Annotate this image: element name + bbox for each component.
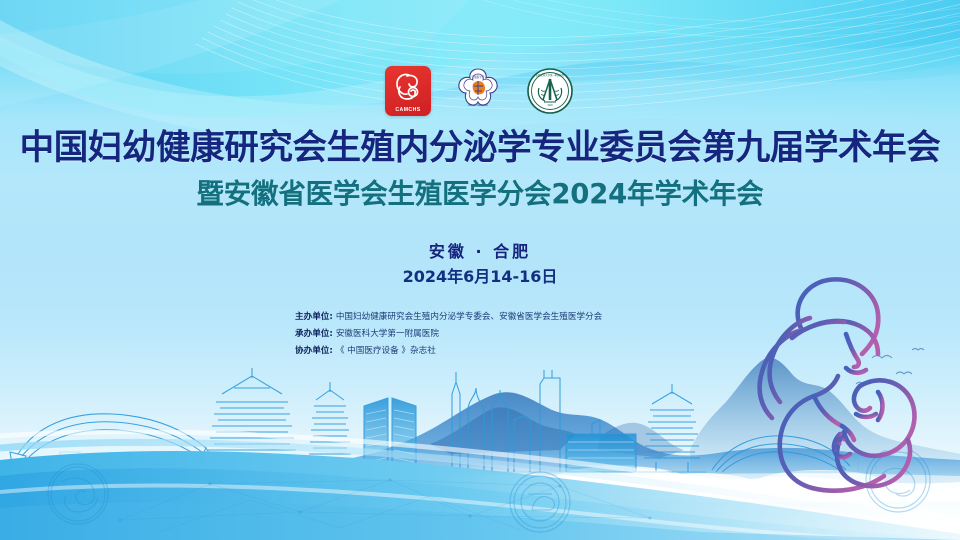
anhui-medical-university-first-hospital-logo: 安徽医科大学第一附属医院 1926 bbox=[525, 66, 575, 116]
organizer-line: 承办单位: 安徽医科大学第一附属医院 bbox=[295, 327, 665, 339]
organizer-label: 主办单位: bbox=[295, 310, 333, 322]
conference-subtitle: 暨安徽省医学会生殖医学分会2024年学术年会 bbox=[0, 178, 960, 211]
organizer-block: 主办单位: 中国妇幼健康研究会生殖内分泌学专委会、安徽省医学会生殖医学分会 承办… bbox=[0, 310, 960, 356]
organizer-logos: CAMCHS 安徽医学会 ANHUI MEDICAL 安徽医科大学第一附属医院 … bbox=[0, 66, 960, 116]
svg-text:1926: 1926 bbox=[547, 104, 553, 107]
camchs-logo-caption: CAMCHS bbox=[395, 107, 420, 113]
organizer-line: 主办单位: 中国妇幼健康研究会生殖内分泌学专委会、安徽省医学会生殖医学分会 bbox=[295, 310, 665, 322]
mother-and-child-line-art bbox=[728, 268, 946, 500]
conference-poster: CAMCHS 安徽医学会 ANHUI MEDICAL 安徽医科大学第一附属医院 … bbox=[0, 0, 960, 540]
title-block: 中国妇幼健康研究会生殖内分泌学专业委员会第九届学术年会 暨安徽省医学会生殖医学分… bbox=[0, 128, 960, 211]
svg-text:安徽医科大学第一附属医院: 安徽医科大学第一附属医院 bbox=[536, 73, 565, 77]
organizer-label: 承办单位: bbox=[295, 327, 333, 339]
watermark-camchs bbox=[48, 464, 108, 524]
watermark-seal-center bbox=[510, 472, 570, 532]
organizer-value: 中国妇幼健康研究会生殖内分泌学专委会、安徽省医学会生殖医学分会 bbox=[336, 310, 602, 322]
dates-text: 2024年6月14-16日 bbox=[0, 263, 960, 287]
svg-text:ANHUI MEDICAL: ANHUI MEDICAL bbox=[468, 103, 489, 107]
venue-text: 安徽 · 合肥 bbox=[0, 238, 960, 262]
camchs-logo: CAMCHS bbox=[385, 66, 431, 116]
organizer-label: 协办单位: bbox=[295, 344, 333, 356]
anhui-medical-association-logo: 安徽医学会 ANHUI MEDICAL bbox=[453, 66, 503, 116]
camchs-mark-icon bbox=[391, 70, 425, 104]
conference-title: 中国妇幼健康研究会生殖内分泌学专业委员会第九届学术年会 bbox=[0, 128, 960, 169]
organizer-line: 协办单位: 《 中国医疗设备 》杂志社 bbox=[295, 344, 665, 356]
organizer-value: 安徽医科大学第一附属医院 bbox=[336, 327, 439, 339]
svg-text:安徽医学会: 安徽医学会 bbox=[472, 75, 485, 79]
organizer-value: 《 中国医疗设备 》杂志社 bbox=[336, 344, 436, 356]
